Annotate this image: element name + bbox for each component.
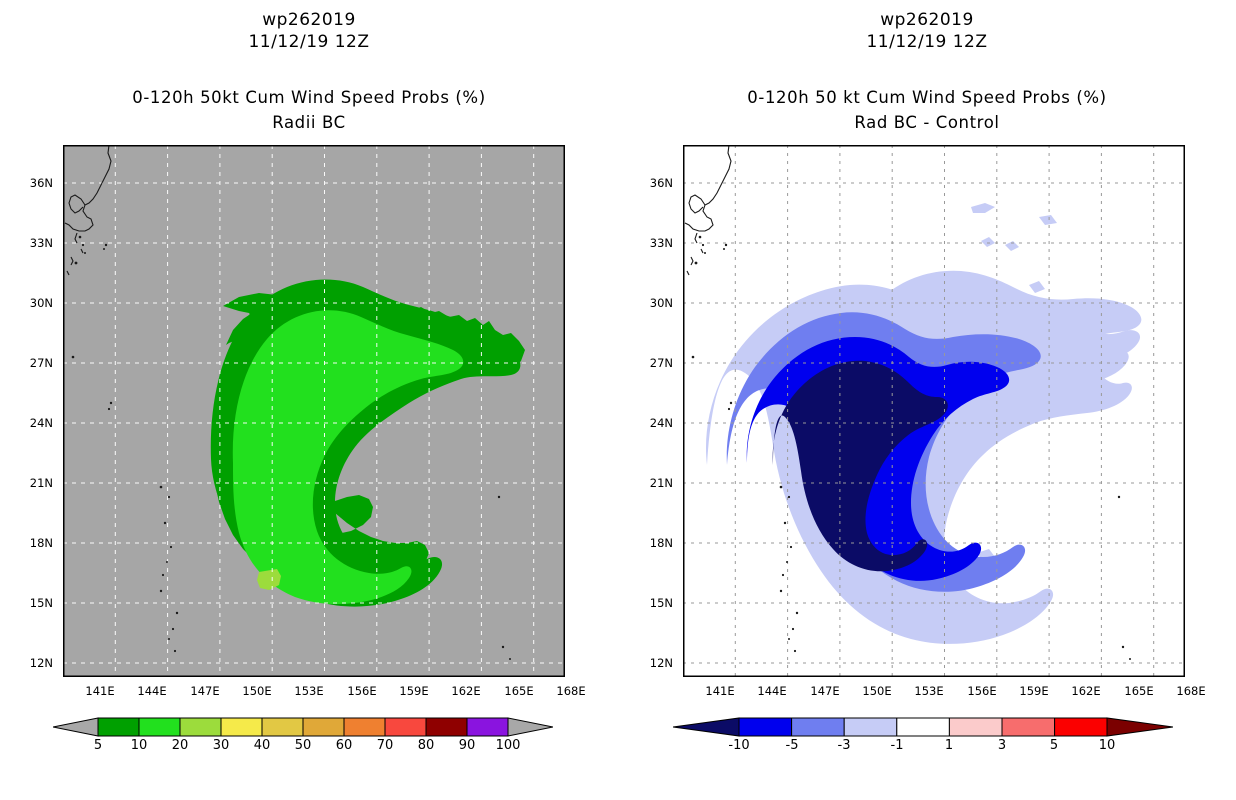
left-cbtick-3: 30 [201, 738, 241, 753]
left-colorbar[interactable] [53, 714, 553, 740]
panel-rad-bc-minus-control: wp262019 11/12/19 12Z 0-120h 50 kt Cum W… [618, 0, 1236, 800]
left-cbtick-8: 80 [406, 738, 446, 753]
left-map-plot[interactable] [63, 145, 565, 677]
left-colorbar-over-arrow [508, 718, 553, 736]
left-cbtick-1: 10 [119, 738, 159, 753]
right-xtick-4: 153E [907, 684, 951, 698]
left-map-svg [63, 145, 565, 677]
left-ytick-8: 12N [8, 656, 53, 670]
right-storm-id: wp262019 [618, 10, 1236, 30]
right-colorbar-under-arrow [673, 718, 739, 736]
left-colorbar-cells [98, 718, 508, 736]
left-storm-id: wp262019 [0, 10, 618, 30]
left-datetime: 11/12/19 12Z [0, 32, 618, 52]
left-chart-subtitle: Radii BC [0, 113, 618, 132]
right-xtick-5: 156E [960, 684, 1004, 698]
right-xtick-6: 159E [1012, 684, 1056, 698]
right-cbtick-5: 3 [982, 738, 1022, 753]
left-xtick-0: 141E [78, 684, 122, 698]
left-xtick-7: 162E [444, 684, 488, 698]
right-xtick-2: 147E [803, 684, 847, 698]
left-xtick-8: 165E [497, 684, 541, 698]
left-xtick-9: 168E [549, 684, 593, 698]
left-cbtick-10: 100 [488, 738, 528, 753]
left-ytick-1: 33N [8, 236, 53, 250]
right-ytick-3: 27N [628, 356, 673, 370]
left-cbtick-0: 5 [78, 738, 118, 753]
right-ytick-5: 21N [628, 476, 673, 490]
right-datetime: 11/12/19 12Z [618, 32, 1236, 52]
left-ytick-4: 24N [8, 416, 53, 430]
right-ytick-1: 33N [628, 236, 673, 250]
left-ytick-0: 36N [8, 176, 53, 190]
left-colorbar-under-arrow [53, 718, 98, 736]
left-cbtick-5: 50 [283, 738, 323, 753]
right-chart-subtitle: Rad BC - Control [618, 113, 1236, 132]
right-ytick-7: 15N [628, 596, 673, 610]
left-ytick-2: 30N [8, 296, 53, 310]
left-ytick-3: 27N [8, 356, 53, 370]
left-cbtick-9: 90 [447, 738, 487, 753]
right-map-svg [683, 145, 1185, 677]
left-xtick-3: 150E [235, 684, 279, 698]
left-ytick-6: 18N [8, 536, 53, 550]
right-cbtick-0: -10 [719, 738, 759, 753]
right-xtick-3: 150E [855, 684, 899, 698]
right-colorbar-over-arrow [1107, 718, 1173, 736]
right-xtick-1: 144E [750, 684, 794, 698]
right-xtick-8: 165E [1117, 684, 1161, 698]
right-colorbar-svg [673, 714, 1173, 740]
right-colorbar-cells [739, 718, 1107, 736]
left-cbtick-4: 40 [242, 738, 282, 753]
right-colorbar[interactable] [673, 714, 1173, 740]
right-ytick-0: 36N [628, 176, 673, 190]
left-chart-title: 0-120h 50kt Cum Wind Speed Probs (%) [0, 88, 618, 107]
left-cbtick-2: 20 [160, 738, 200, 753]
right-chart-title: 0-120h 50 kt Cum Wind Speed Probs (%) [618, 88, 1236, 107]
left-ytick-5: 21N [8, 476, 53, 490]
right-ytick-4: 24N [628, 416, 673, 430]
left-xtick-6: 159E [392, 684, 436, 698]
left-ytick-7: 15N [8, 596, 53, 610]
panel-radii-bc: wp262019 11/12/19 12Z 0-120h 50kt Cum Wi… [0, 0, 618, 800]
right-cbtick-2: -3 [824, 738, 864, 753]
left-cbtick-7: 70 [365, 738, 405, 753]
right-cbtick-6: 5 [1034, 738, 1074, 753]
left-xtick-4: 153E [287, 684, 331, 698]
right-cbtick-3: -1 [877, 738, 917, 753]
left-colorbar-svg [53, 714, 553, 740]
left-xtick-5: 156E [340, 684, 384, 698]
left-xtick-1: 144E [130, 684, 174, 698]
left-cbtick-6: 60 [324, 738, 364, 753]
right-map-plot[interactable] [683, 145, 1185, 677]
right-cbtick-4: 1 [929, 738, 969, 753]
right-ytick-6: 18N [628, 536, 673, 550]
right-ytick-8: 12N [628, 656, 673, 670]
right-cbtick-1: -5 [772, 738, 812, 753]
right-ytick-2: 30N [628, 296, 673, 310]
left-xtick-2: 147E [183, 684, 227, 698]
right-xtick-7: 162E [1064, 684, 1108, 698]
right-xtick-9: 168E [1169, 684, 1213, 698]
right-cbtick-7: 10 [1087, 738, 1127, 753]
right-xtick-0: 141E [698, 684, 742, 698]
